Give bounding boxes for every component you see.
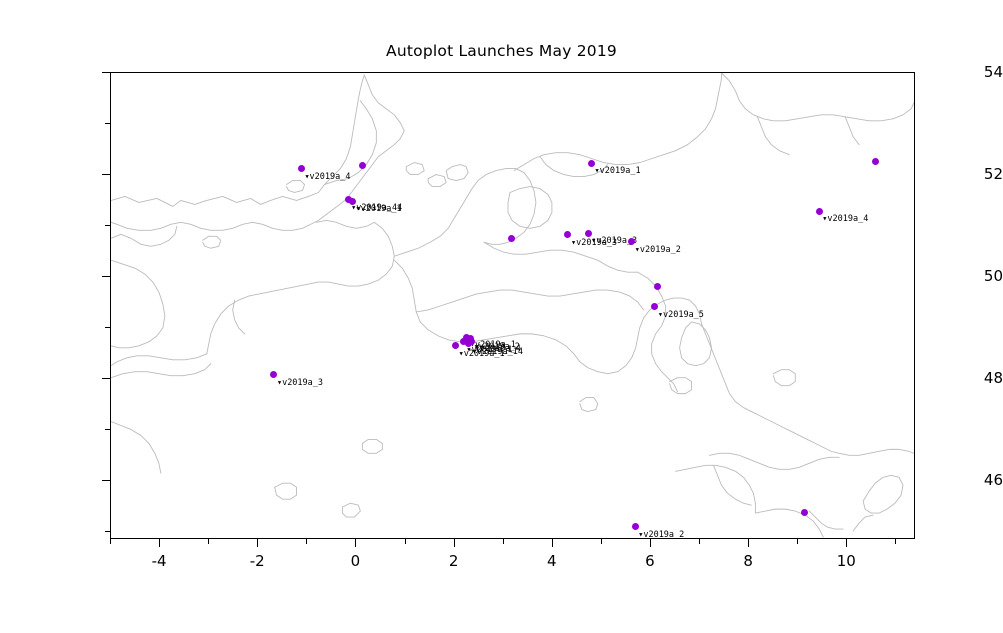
x-axis-tick (454, 539, 455, 547)
x-axis-minor-tick (503, 539, 504, 544)
map-axes: ▾v2019a_4▾v2019a_44▾v2019a_1▾v2019a_3▾v2… (110, 72, 915, 539)
scatter-point-label: ▾v2019a_2 (638, 531, 684, 539)
y-axis-minor-tick (105, 225, 110, 226)
x-axis-tick (257, 539, 258, 547)
scatter-point-label: ▾v2019a_2 (635, 246, 681, 255)
y-axis-tick-label: 48 (911, 369, 1003, 387)
x-axis-tick (846, 539, 847, 547)
y-axis-tick (102, 72, 110, 73)
y-axis-tick (102, 174, 110, 175)
basemap-coastlines (111, 73, 914, 538)
x-axis-minor-tick (699, 539, 700, 544)
y-axis-tick (102, 480, 110, 481)
y-axis-minor-tick (105, 327, 110, 328)
scatter-point-label: ▾v2019a_3 (277, 379, 323, 388)
scatter-point-label: ▾v2019a_5 (658, 311, 704, 320)
y-axis-tick (102, 276, 110, 277)
y-axis-tick-label: 46 (911, 471, 1003, 489)
x-axis-tick (748, 539, 749, 547)
x-axis-minor-tick (895, 539, 896, 544)
scatter-point-label: ▾v2019a_1 (356, 205, 402, 214)
x-axis-minor-tick (306, 539, 307, 544)
x-axis-tick (552, 539, 553, 547)
scatter-point-label: ▾v2019a_4 (304, 173, 350, 182)
x-axis-minor-tick (797, 539, 798, 544)
scatter-point-label: ▾v2019a_4 (822, 215, 868, 224)
x-axis-tick-label: 10 (816, 552, 876, 570)
x-axis-tick-label: -4 (129, 552, 189, 570)
y-axis-minor-tick (105, 531, 110, 532)
x-axis-tick-label: 2 (424, 552, 484, 570)
y-axis-minor-tick (105, 429, 110, 430)
x-axis-minor-tick (208, 539, 209, 544)
x-axis-tick (650, 539, 651, 547)
x-axis-tick-label: 4 (522, 552, 582, 570)
x-axis-tick-label: 6 (620, 552, 680, 570)
y-axis-minor-tick (105, 123, 110, 124)
y-axis-tick-label: 52 (911, 165, 1003, 183)
scatter-point-label: ▾v2019a_1 (595, 167, 641, 176)
y-axis-tick (102, 378, 110, 379)
x-axis-tick-label: 8 (718, 552, 778, 570)
x-axis-minor-tick (601, 539, 602, 544)
x-axis-minor-tick (110, 539, 111, 544)
y-axis-tick-label: 54 (911, 63, 1003, 81)
x-axis-tick (355, 539, 356, 547)
x-axis-minor-tick (405, 539, 406, 544)
chart-title: Autoplot Launches May 2019 (0, 42, 1003, 60)
x-axis-tick-label: -2 (227, 552, 287, 570)
x-axis-tick (159, 539, 160, 547)
figure-canvas: Autoplot Launches May 2019 (0, 0, 1003, 633)
scatter-point-label: ▾v2019a_4 (475, 345, 521, 354)
y-axis-tick-label: 50 (911, 267, 1003, 285)
x-axis-tick-label: 0 (325, 552, 385, 570)
